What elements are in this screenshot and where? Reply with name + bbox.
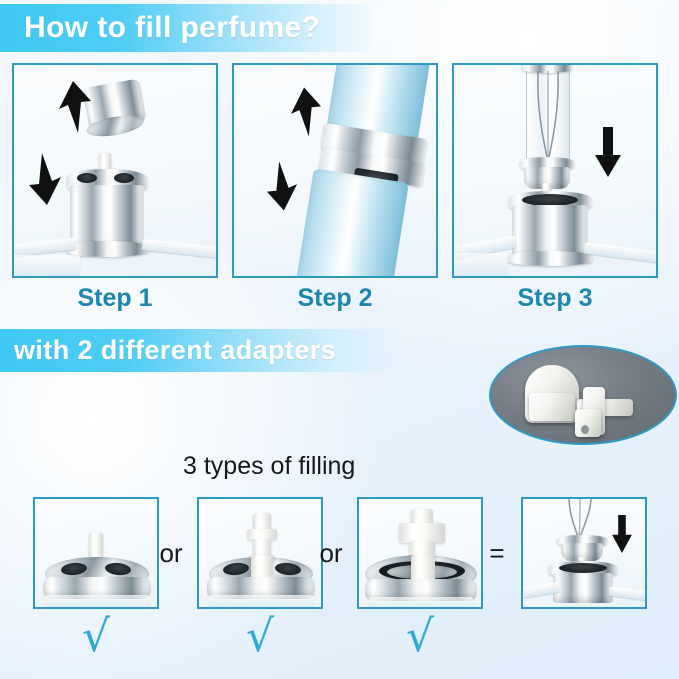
filling-option-1-panel xyxy=(33,497,159,609)
atomizer-straws xyxy=(528,71,568,163)
glass-shelf-right xyxy=(609,587,647,601)
adapter-cross-foot xyxy=(575,409,601,437)
glass-shelf-base xyxy=(12,255,80,277)
check-icon-2: √ xyxy=(197,615,323,659)
down-arrow-icon xyxy=(611,515,633,553)
glass-shelf-left xyxy=(13,237,76,256)
step-1-panel xyxy=(12,63,218,278)
step-3-label: Step 3 xyxy=(452,284,658,313)
glass-base xyxy=(209,595,313,609)
title-banner: How to fill perfume? xyxy=(0,4,372,52)
connector-or-1: or xyxy=(152,538,190,569)
adapter-wide-flange xyxy=(399,523,445,543)
glass-shelf-base xyxy=(452,253,508,277)
glass-base xyxy=(45,595,149,609)
collar-slot-left xyxy=(77,173,97,183)
blue-tube-lower xyxy=(295,168,409,278)
page-title: How to fill perfume? xyxy=(24,11,320,45)
adapter-hole xyxy=(581,425,589,434)
bottle-base xyxy=(70,185,144,249)
glass-base xyxy=(369,597,473,609)
glass-shelf-right xyxy=(584,242,658,262)
adapters-photo xyxy=(489,345,677,445)
filling-result-panel xyxy=(521,497,647,609)
bottle-base xyxy=(553,573,613,603)
check-icon-3: √ xyxy=(357,615,483,659)
step-1-label: Step 1 xyxy=(12,284,218,313)
collar-slot-right xyxy=(114,173,134,183)
adapters-banner-label: with 2 different adapters xyxy=(14,335,336,366)
adapter-dome-base xyxy=(529,393,575,421)
up-arrow-icon xyxy=(290,87,322,137)
connector-or-2: or xyxy=(312,538,350,569)
step-2-panel xyxy=(232,63,438,278)
down-arrow-icon xyxy=(266,161,298,211)
filling-title: 3 types of filling xyxy=(183,452,355,481)
up-arrow-icon xyxy=(58,81,92,133)
down-arrow-icon xyxy=(594,127,622,177)
connector-equals: = xyxy=(478,538,516,569)
adapters-banner: with 2 different adapters xyxy=(0,329,396,372)
step-2-label: Step 2 xyxy=(232,284,438,313)
check-icon-1: √ xyxy=(33,615,159,659)
down-arrow-icon xyxy=(28,153,62,205)
infographic-page: How to fill perfume? Step 1 xyxy=(0,0,679,679)
bottle-foot xyxy=(508,251,592,266)
filling-option-3-panel xyxy=(357,497,483,609)
filling-option-2-panel xyxy=(197,497,323,609)
step-3-panel xyxy=(452,63,658,278)
glass-shelf-right xyxy=(142,239,218,258)
collar-opening xyxy=(559,563,607,573)
